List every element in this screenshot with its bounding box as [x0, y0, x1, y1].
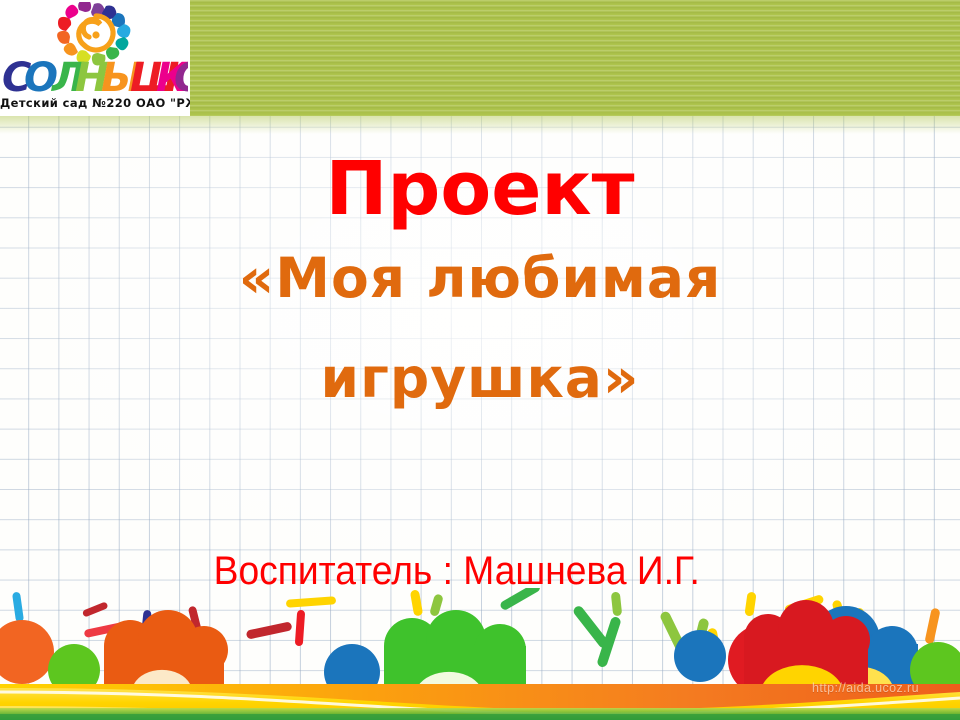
kindergarten-logo: С О Л Н Ы Ш К О Детский сад №220 ОАО "РЖ… — [0, 0, 190, 116]
subtitle-line-2: игрушка» — [0, 346, 960, 410]
title-block: Проект «Моя любимая игрушка» — [0, 146, 960, 410]
subtitle-line-1: «Моя любимая — [0, 246, 960, 310]
logo-subtitle: Детский сад №220 ОАО "РЖД" — [0, 96, 190, 110]
page-title: Проект — [0, 146, 960, 232]
watermark-url: http://aida.ucoz.ru — [812, 681, 919, 695]
svg-text:О: О — [174, 58, 188, 98]
footer-illustration — [0, 588, 960, 720]
footer-decoration — [0, 588, 960, 720]
slide-canvas: С О Л Н Ы Ш К О Детский сад №220 ОАО "РЖ… — [0, 0, 960, 720]
logo-wordmark: С О Л Н Ы Ш К О — [2, 58, 188, 98]
